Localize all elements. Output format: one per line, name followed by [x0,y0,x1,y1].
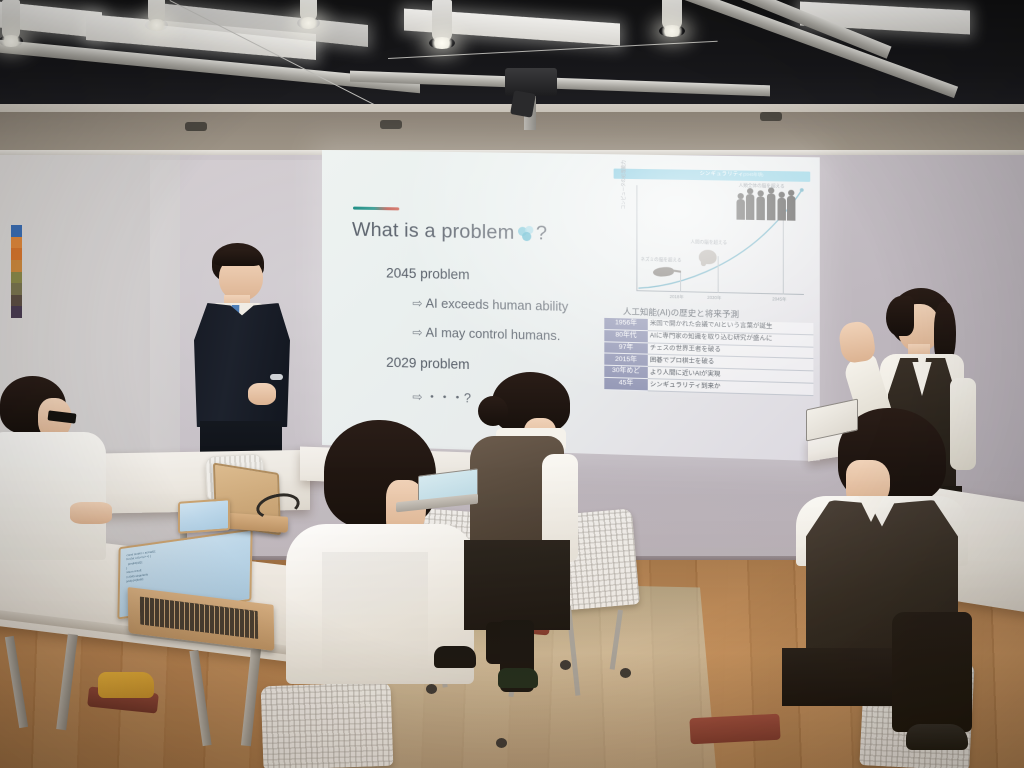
ceiling-spot-light [185,122,207,131]
chart-banner-title: シンギュラリティ [700,170,744,178]
chair-caster [560,660,571,670]
student-center [282,420,462,680]
slide-heading-2045: 2045 problem [386,265,469,282]
student-center-shirt-shading [322,552,428,672]
slide-accent-rule [353,207,399,210]
slide-bullet-ai-control: ⇨AI may control humans. [412,325,560,343]
laptop-second-screen[interactable] [178,498,230,534]
pendant-light [148,0,165,24]
chart-banner-sub: (2045年頃) [743,172,764,178]
pendant-light [2,0,20,40]
shoe [434,646,476,668]
student-left-shirt [0,432,106,560]
chart-xtick-2030: 2030年 [707,295,721,301]
cluster-dots-icon [518,226,535,242]
presenter-female-raised-hand [837,320,876,364]
chair-caster [496,738,507,748]
shoe [906,724,968,750]
pendant-light [432,0,452,42]
chart-banner: シンギュラリティ (2045年頃) [614,169,811,182]
ceiling-spot-light [760,112,782,121]
slide-heading-2029: 2029 problem [386,355,469,372]
student-left [0,376,132,576]
student-mid-right-skirt [464,540,570,630]
student-mid-right [462,370,612,660]
arrow-icon: ⇨ [412,325,422,339]
slide-title: What is a problem? [352,219,547,246]
chart-annotation-mouse: ネズミの脳を超える [641,257,682,264]
wall-sticky-strip [11,225,22,318]
classroom-scene: What is a problem? 2045 problem ⇨AI exce… [0,0,1024,768]
chair-caster [426,684,437,694]
laptop-keyboard[interactable] [140,596,258,639]
student-left-hand [70,502,112,524]
chart-xtick-2018: 2018年 [670,294,684,300]
yellow-bag [98,672,154,698]
ceiling-spot-light [380,120,402,129]
pendant-light [662,0,682,30]
chart-annotation-human: 人間の脳を超える [690,239,727,246]
chair-seat-right[interactable] [689,714,780,745]
pendant-light [300,0,317,22]
ai-history-table: 1956年 米国で開かれた会議でAIという言葉が誕生 80年代 AIに専門家の知… [604,318,813,396]
chart-y-label: コンピュータの処理能力 [621,158,627,209]
arrow-icon: ⇨ [412,390,422,404]
chart-xtick-2045: 2045年 [772,296,786,302]
people-silhouette-icon [736,189,795,221]
brain-silhouette-icon [699,250,717,265]
slide-bullet-ai-exceeds: ⇨AI exceeds human ability [412,296,568,314]
slide-title-suffix: ? [536,222,547,245]
soffit-shadow-band [0,112,1024,150]
table-cell-year: 97年 [604,341,647,354]
chair-foreground[interactable] [261,682,394,768]
presenter-male-jacket [194,303,290,427]
slide-title-text: What is a problem [352,219,514,244]
chart-gridline-2030 [718,256,719,293]
chair-caster [620,668,631,678]
chart-gridline-2018 [680,272,681,292]
arrow-icon: ⇨ [412,296,422,310]
shoe [498,668,538,688]
presenter-male-hands [248,383,276,405]
singularity-chart: シンギュラリティ (2045年頃) コンピュータの処理能力 [609,168,812,307]
projector-lens [510,90,536,117]
chart-annotation-humanity: 人類全体の脳を超える [739,183,785,190]
presenter-male-watch [270,374,283,380]
presenter-male-hair-front [214,249,262,266]
student-right-trousers [892,612,972,732]
table-cell-year: 80年代 [604,329,647,342]
ceiling-projector [505,68,557,96]
student-mid-right-bun [478,396,508,426]
presenter-female-hair-bangs [886,296,914,336]
